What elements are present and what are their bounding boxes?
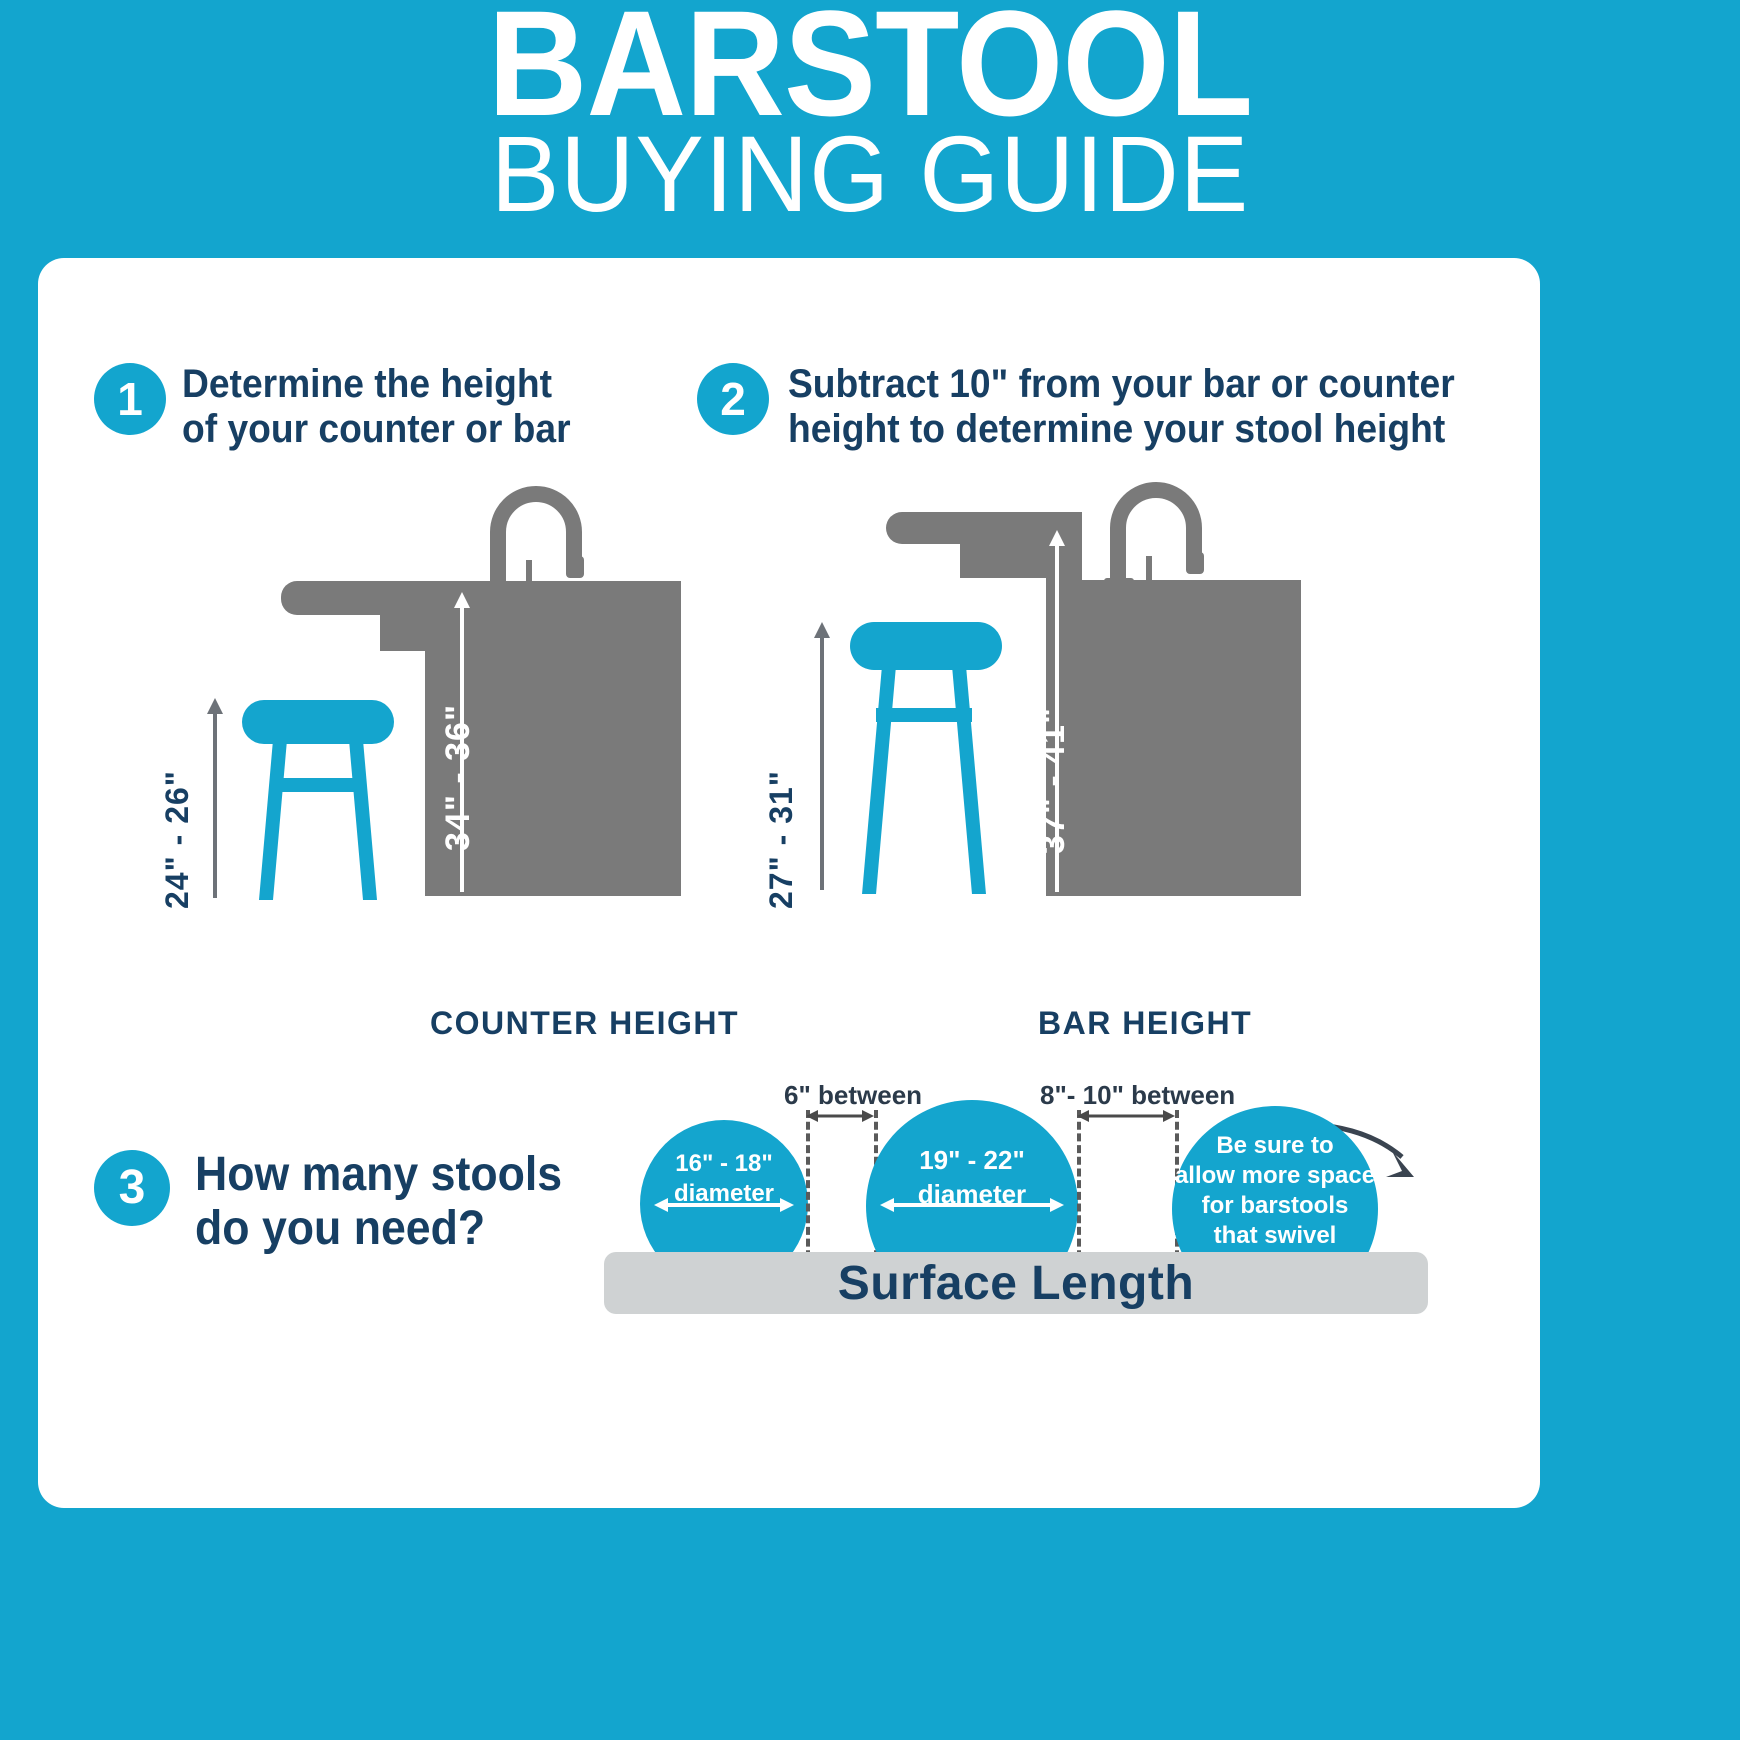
gap-1-arrow	[806, 1107, 874, 1125]
swivel-note-line-1: Be sure to	[1172, 1132, 1378, 1160]
gap-2-guide-left	[1077, 1110, 1081, 1270]
counter-height-caption: COUNTER HEIGHT	[430, 1005, 739, 1042]
stool-small-diameter-arrow	[654, 1196, 794, 1214]
swivel-note-line-3: for barstools	[1172, 1192, 1378, 1220]
step-1-number-badge: 1	[94, 363, 166, 435]
step-2-title-line-2: height to determine your stool height	[788, 407, 1532, 452]
stool-medium-diameter-arrow	[880, 1196, 1064, 1214]
step-2-title: Subtract 10" from your bar or counter he…	[788, 362, 1532, 452]
bar-height-value: 37" - 41"	[1034, 707, 1073, 854]
faucet-icon-bar	[1100, 468, 1260, 598]
stool-height-arrow	[205, 698, 225, 898]
counter-stool-seat	[242, 700, 394, 744]
gap-1-guide-left	[806, 1110, 810, 1270]
counter-height-value: 34" - 36"	[439, 704, 478, 851]
step-2-title-line-1: Subtract 10" from your bar or counter	[788, 362, 1532, 407]
step-1-title-line-1: Determine the height	[182, 362, 777, 407]
swivel-note-line-4: that swivel	[1172, 1222, 1378, 1250]
step-1-title-line-2: of your counter or bar	[182, 407, 777, 452]
step-1-title: Determine the height of your counter or …	[182, 362, 777, 452]
page-header: BARSTOOL BUYING GUIDE	[0, 0, 1740, 250]
surface-length-bar: Surface Length	[604, 1252, 1428, 1314]
gap-2-arrow	[1077, 1107, 1175, 1125]
step-2-number-badge: 2	[697, 363, 769, 435]
page-title-sub: BUYING GUIDE	[44, 120, 1697, 228]
swivel-note-line-2: allow more space	[1172, 1162, 1378, 1190]
counter-stool-stretcher	[270, 778, 366, 792]
counter-stool-height-value: 24" - 26"	[159, 770, 196, 909]
bar-stool-height-value: 27" - 31"	[763, 770, 800, 909]
bar-stool-seat	[850, 622, 1002, 670]
step-3-title-line-2: do you need?	[195, 1202, 660, 1256]
bar-counter-body	[1046, 580, 1301, 896]
step-3-title-line-1: How many stools	[195, 1148, 660, 1202]
step-3-title: How many stools do you need?	[195, 1148, 660, 1256]
stool-circle-medium-size: 19" - 22"	[866, 1146, 1078, 1176]
bar-height-caption: BAR HEIGHT	[1038, 1005, 1252, 1042]
step-3-number-badge: 3	[94, 1150, 170, 1226]
bar-stool-height-arrow	[812, 622, 832, 890]
stool-circle-small-size: 16" - 18"	[640, 1150, 808, 1178]
bar-stool-stretcher	[876, 708, 972, 722]
